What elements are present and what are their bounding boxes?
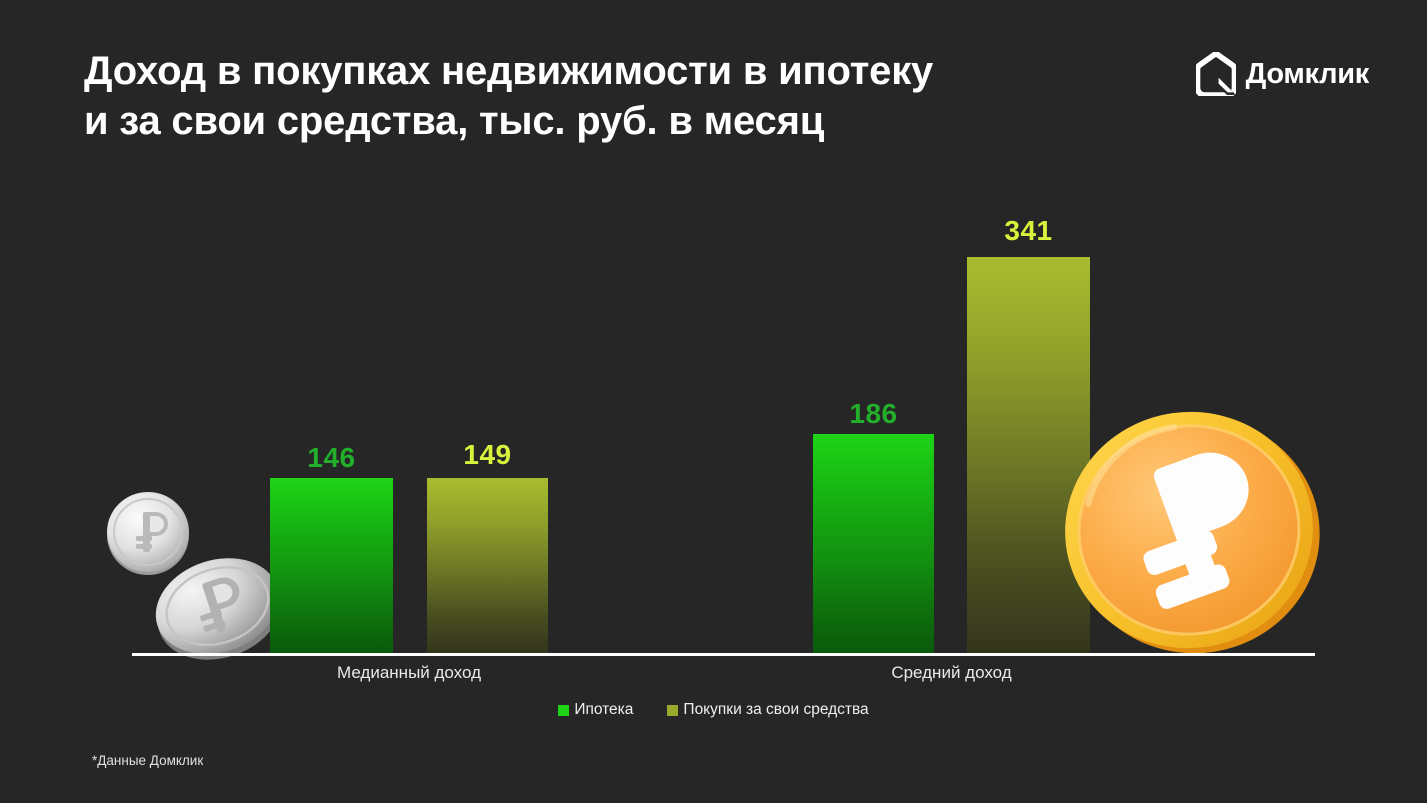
bar-ownfunds-average	[967, 257, 1090, 653]
silver-coin-small-icon	[104, 489, 192, 577]
legend-swatch-ownfunds	[667, 705, 678, 716]
bar-value-mortgage-average: 186	[813, 398, 934, 430]
legend-label-mortgage: Ипотека	[574, 701, 633, 719]
legend-swatch-mortgage	[558, 705, 569, 716]
bar-value-ownfunds-average: 341	[967, 215, 1090, 247]
bar-mortgage-median	[270, 478, 393, 653]
category-label-median: Медианный доход	[270, 663, 548, 683]
source-footnote: *Данные Домклик	[92, 753, 203, 768]
bar-value-ownfunds-median: 149	[427, 439, 548, 471]
category-label-average: Средний доход	[813, 663, 1090, 683]
legend-item-ownfunds[interactable]: Покупки за свои средства	[667, 701, 868, 719]
axis-baseline	[132, 653, 1315, 656]
infographic-canvas: Доход в покупках недвижимости в ипотеку …	[0, 0, 1427, 803]
chart-plot-area: 146 149 186 341	[0, 0, 1427, 803]
chart-legend: Ипотека Покупки за свои средства	[0, 701, 1427, 719]
bar-value-mortgage-median: 146	[270, 442, 393, 474]
silver-coin-large-icon	[148, 550, 288, 660]
gold-coin-large-icon	[1054, 404, 1324, 656]
legend-item-mortgage[interactable]: Ипотека	[558, 701, 633, 719]
bar-ownfunds-median	[427, 478, 548, 653]
bar-mortgage-average	[813, 434, 934, 653]
legend-label-ownfunds: Покупки за свои средства	[683, 701, 868, 719]
